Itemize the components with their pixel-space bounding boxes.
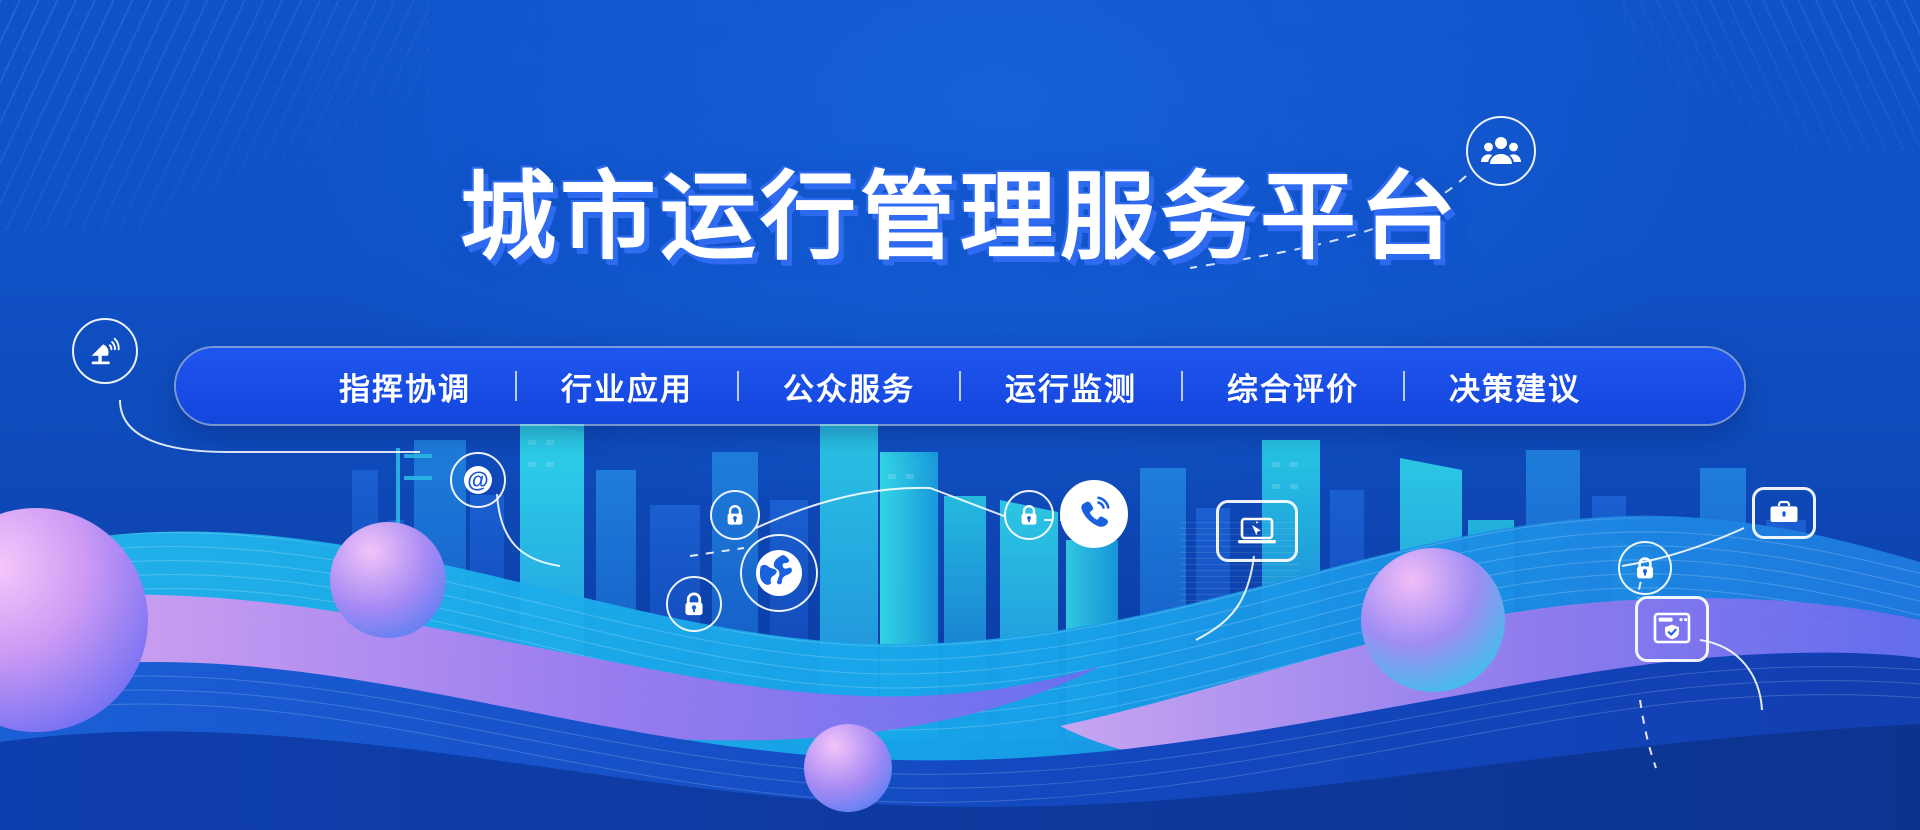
- people-group-icon[interactable]: [1466, 116, 1536, 186]
- lock-icon[interactable]: [1618, 541, 1672, 595]
- nav-item-operation-monitoring[interactable]: 运行监测: [961, 364, 1181, 409]
- decorative-sphere-right: [1361, 548, 1505, 692]
- lock-icon[interactable]: [666, 576, 722, 632]
- briefcase-icon[interactable]: [1752, 487, 1816, 539]
- nav-item-decision-suggestion[interactable]: 决策建议: [1405, 364, 1625, 409]
- nav-item-comprehensive-evaluation[interactable]: 综合评价: [1183, 364, 1403, 409]
- phone-signal-icon[interactable]: [1060, 480, 1128, 548]
- nav-item-industry-application[interactable]: 行业应用: [517, 364, 737, 409]
- lock-icon[interactable]: [1004, 490, 1054, 540]
- nav-list: 指挥协调 行业应用 公众服务 运行监测 综合评价 决策建议: [295, 364, 1625, 409]
- nav-item-public-service[interactable]: 公众服务: [739, 364, 959, 409]
- nav-item-command-coordination[interactable]: 指挥协调: [295, 364, 515, 409]
- browser-shield-icon[interactable]: [1635, 596, 1709, 662]
- globe-icon[interactable]: [740, 534, 818, 612]
- satellite-dish-icon[interactable]: [72, 318, 138, 384]
- svg-text:@: @: [467, 468, 488, 493]
- laptop-cursor-icon[interactable]: [1216, 500, 1298, 562]
- at-sign-icon[interactable]: @: [450, 452, 506, 508]
- lock-icon[interactable]: [710, 490, 760, 540]
- city-platform-banner: 城市运行管理服务平台 指挥协调 行业应用 公众服务 运行监测 综合评价 决策建议: [0, 0, 1920, 830]
- page-title: 城市运行管理服务平台: [0, 168, 1920, 269]
- nav-pill: 指挥协调 行业应用 公众服务 运行监测 综合评价 决策建议: [176, 348, 1744, 424]
- decorative-sphere-bottom: [804, 724, 892, 812]
- decorative-sphere-mid-left: [330, 522, 446, 638]
